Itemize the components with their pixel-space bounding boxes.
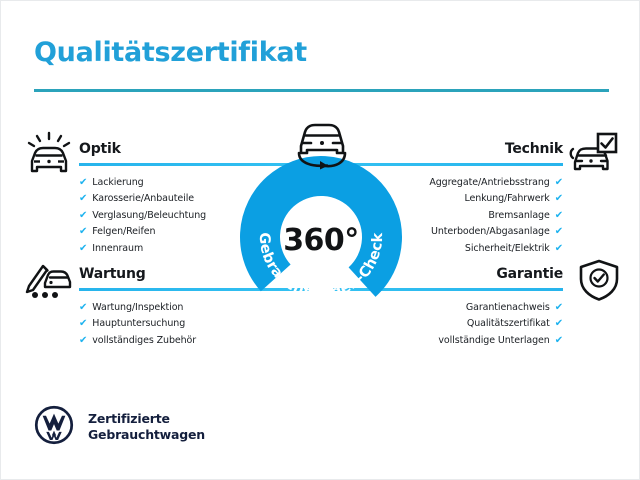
car-front-shine-icon bbox=[23, 131, 75, 175]
list-item-label: Verglasung/Beleuchtung bbox=[92, 210, 206, 221]
certificate-page: Qualitätszertifikat Optik ✔Lackier bbox=[0, 0, 640, 480]
list-item: vollständige Unterlagen✔ bbox=[333, 333, 563, 349]
list-item-label: Qualitätszertifikat bbox=[467, 318, 550, 329]
vw-footer-text: Zertifizierte Gebrauchtwagen bbox=[88, 411, 205, 443]
car-rotate-360-icon bbox=[289, 120, 355, 172]
list-item-label: Unterboden/Abgasanlage bbox=[431, 226, 550, 237]
vw-footer-line1: Zertifizierte bbox=[88, 411, 205, 427]
list-item-label: Bremsanlage bbox=[488, 210, 549, 221]
check-icon: ✔ bbox=[79, 175, 87, 191]
list-item-label: Lenkung/Fahrwerk bbox=[464, 193, 549, 204]
check-icon: ✔ bbox=[555, 224, 563, 240]
check-icon: ✔ bbox=[555, 208, 563, 224]
check-icon: ✔ bbox=[79, 316, 87, 332]
list-item-label: vollständiges Zubehör bbox=[92, 335, 196, 346]
shield-check-icon bbox=[573, 258, 625, 302]
check-icon: ✔ bbox=[79, 191, 87, 207]
check-icon: ✔ bbox=[79, 333, 87, 349]
car-service-pen-icon bbox=[23, 256, 75, 300]
check-icon: ✔ bbox=[79, 300, 87, 316]
list-item-label: Wartung/Inspektion bbox=[92, 302, 183, 313]
list-item-label: Lackierung bbox=[92, 177, 143, 188]
check-icon: ✔ bbox=[79, 208, 87, 224]
360-check-badge: Gebrauchtwagen-Check 360° bbox=[239, 155, 403, 319]
badge-value: 360° bbox=[239, 155, 403, 319]
check-icon: ✔ bbox=[79, 241, 87, 257]
vw-footer-line2: Gebrauchtwagen bbox=[88, 427, 205, 443]
vw-footer: Zertifizierte Gebrauchtwagen bbox=[34, 405, 205, 449]
header-divider bbox=[34, 89, 609, 92]
check-icon: ✔ bbox=[555, 191, 563, 207]
list-item-label: Garantienachweis bbox=[466, 302, 550, 313]
list-item-label: Karosserie/Anbauteile bbox=[92, 193, 194, 204]
check-icon: ✔ bbox=[555, 300, 563, 316]
list-item-label: vollständige Unterlagen bbox=[438, 335, 549, 346]
check-icon: ✔ bbox=[79, 224, 87, 240]
list-item-label: Aggregate/Antriebsstrang bbox=[429, 177, 549, 188]
check-icon: ✔ bbox=[555, 241, 563, 257]
list-item-label: Felgen/Reifen bbox=[92, 226, 155, 237]
check-icon: ✔ bbox=[555, 333, 563, 349]
car-checkbox-icon bbox=[567, 131, 619, 175]
vw-roundel-logo bbox=[34, 405, 74, 449]
page-title: Qualitätszertifikat bbox=[34, 37, 307, 68]
list-item-label: Innenraum bbox=[92, 243, 143, 254]
list-item-label: Hauptuntersuchung bbox=[92, 318, 185, 329]
check-icon: ✔ bbox=[555, 316, 563, 332]
list-item-label: Sicherheit/Elektrik bbox=[465, 243, 550, 254]
check-icon: ✔ bbox=[555, 175, 563, 191]
list-item: ✔vollständiges Zubehör bbox=[79, 333, 309, 349]
